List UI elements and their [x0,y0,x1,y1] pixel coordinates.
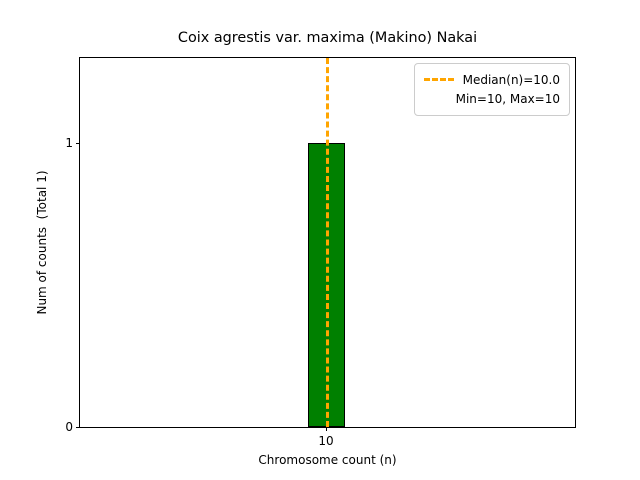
plot-area: 0 1 10 Median(n)=10.0 Min=10, Max=10 [79,57,576,428]
xtick-mark [326,427,327,431]
legend-label: Median(n)=10.0 [463,73,560,87]
legend: Median(n)=10.0 Min=10, Max=10 [414,63,570,116]
legend-label: Min=10, Max=10 [456,92,560,106]
ytick-mark [76,427,80,428]
median-line [326,58,329,427]
page-title: Coix agrestis var. maxima (Makino) Nakai [79,30,576,46]
y-axis-label: Num of counts (Total 1) [32,57,52,428]
ytick-label: 0 [65,420,73,434]
legend-entry-minmax: Min=10, Max=10 [424,89,560,108]
legend-entry-median: Median(n)=10.0 [424,70,560,89]
xtick-label: 10 [318,434,333,448]
x-axis-label: Chromosome count (n) [79,453,576,467]
matplotlib-figure: Coix agrestis var. maxima (Makino) Nakai… [0,0,640,480]
dashed-line-icon [424,78,454,81]
ytick-mark [76,143,80,144]
ytick-label: 1 [65,136,73,150]
